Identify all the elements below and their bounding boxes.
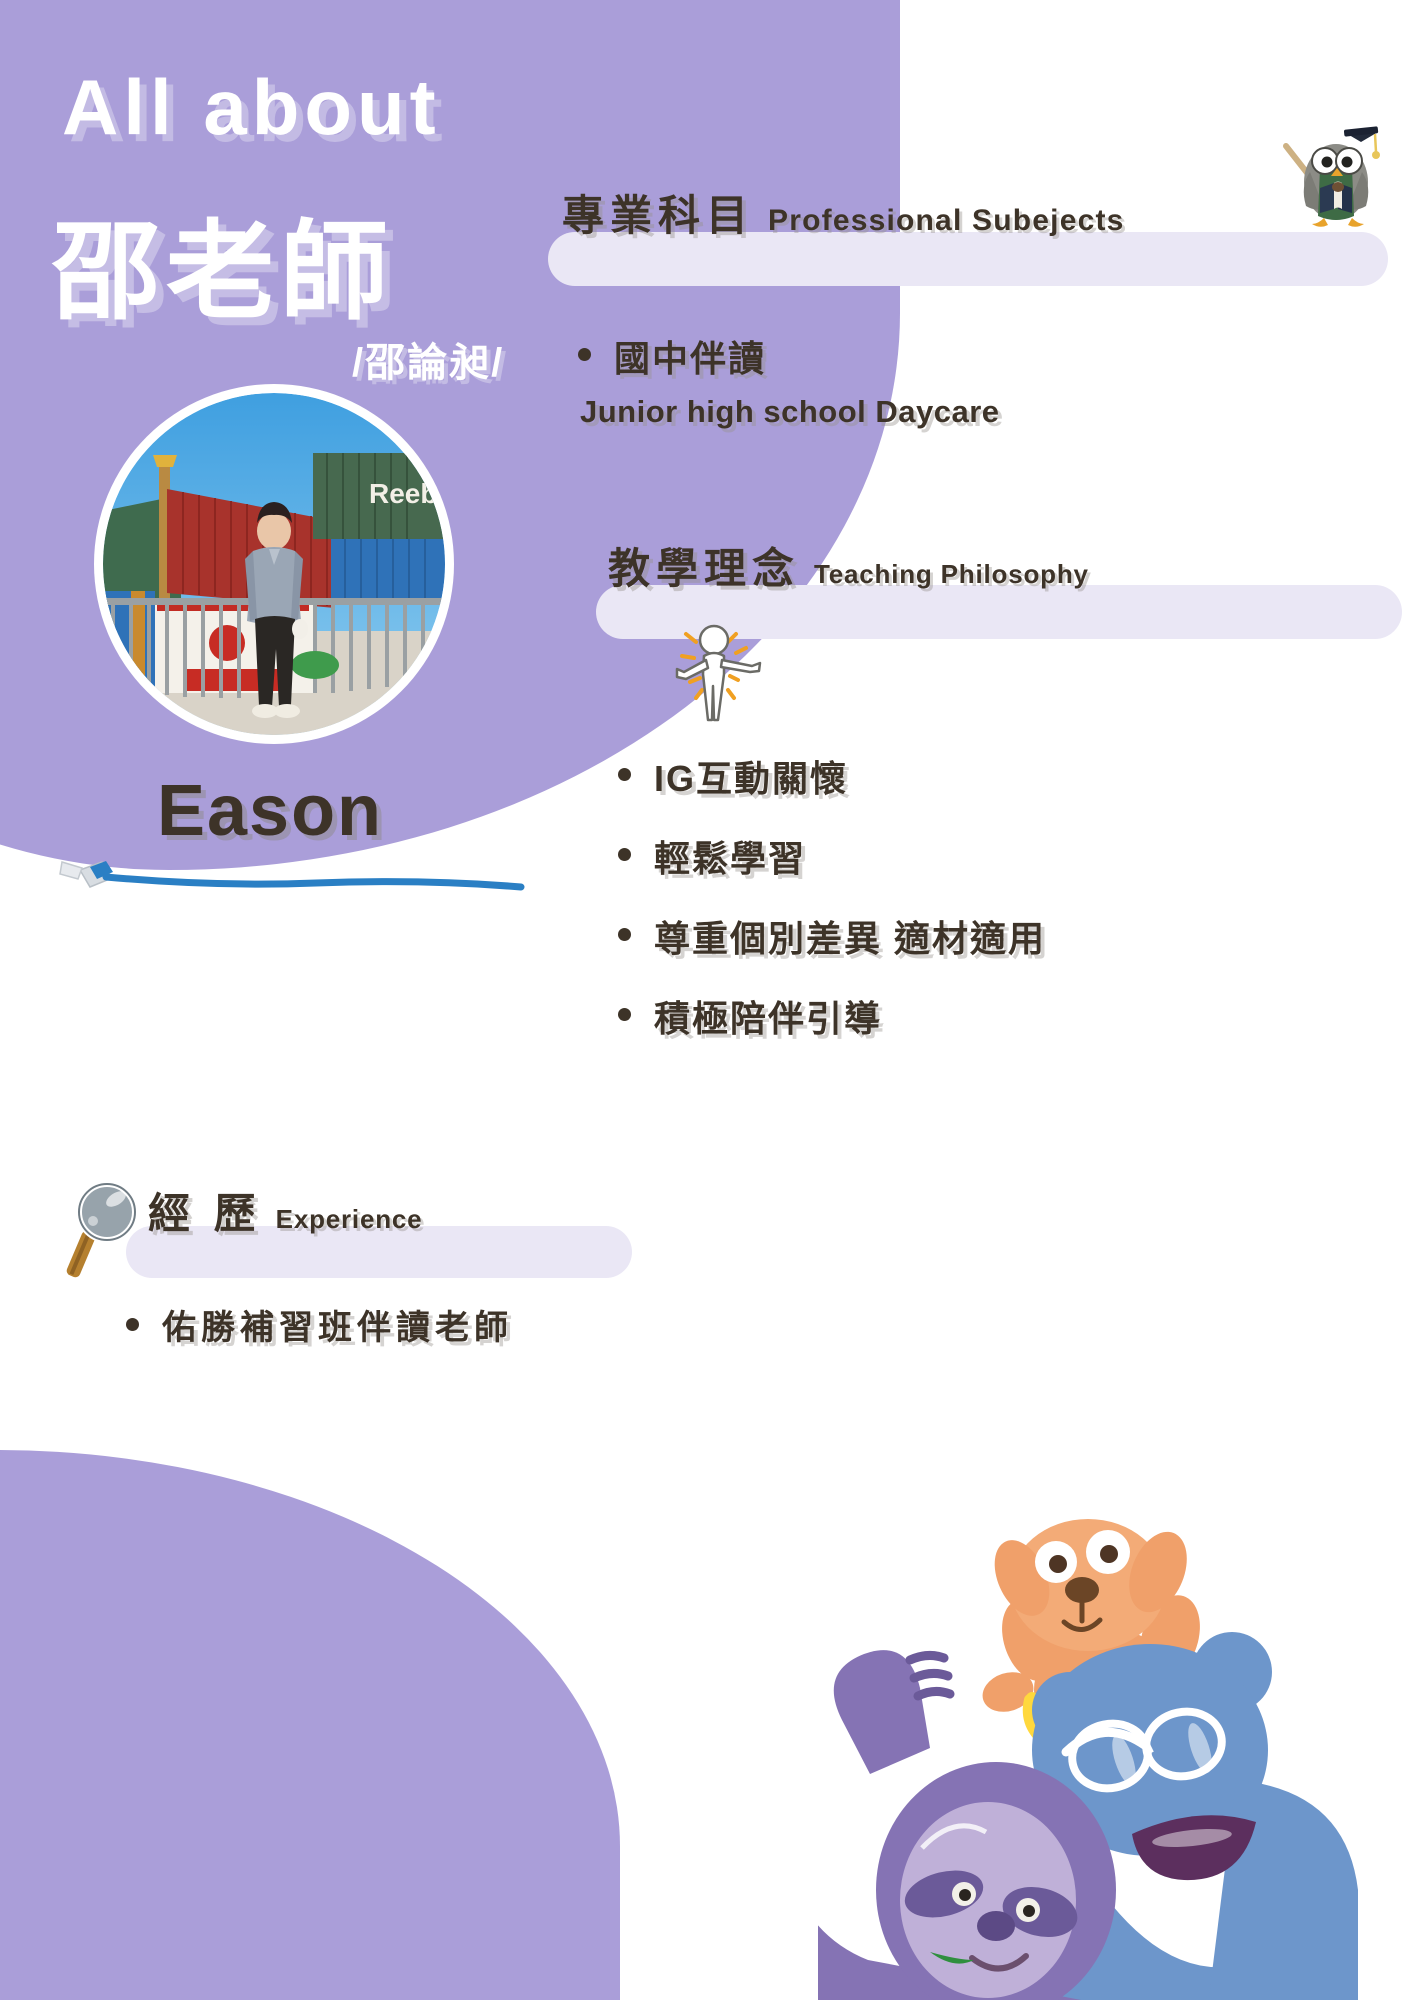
sparkle-person-illustration <box>672 612 776 726</box>
marker-stroke-icon <box>46 852 526 894</box>
bullet-list-professional: 國中伴讀 Junior high school Daycare <box>572 330 1272 458</box>
list-item: 輕鬆學習 <box>612 830 1312 882</box>
animal-friends-illustration <box>818 1460 1414 2000</box>
purple-background-blob-bottom <box>0 1450 620 2000</box>
animal-friends-icon <box>818 1460 1414 2000</box>
list-item-en: Junior high school Daycare <box>580 394 1272 430</box>
magnifying-glass-illustration <box>52 1172 156 1284</box>
profile-name: Eason <box>0 770 540 852</box>
page-title-chinese: 邵老師 <box>52 185 394 341</box>
section-header-experience: 經 歷 Experience <box>148 1180 422 1241</box>
list-item-zh: IG互動關懷 <box>654 758 848 799</box>
section-header-professional: 專業科目 Professional Subejects <box>562 182 1125 243</box>
owl-professor-icon <box>1272 110 1404 230</box>
blue-marker-underline <box>46 852 526 894</box>
list-item: 尊重個別差異 適材適用 <box>612 910 1312 962</box>
bullet-list-philosophy: IG互動關懷 輕鬆學習 尊重個別差異 適材適用 積極陪伴引導 <box>612 750 1312 1070</box>
list-item-zh: 國中伴讀 <box>614 338 766 379</box>
owl-professor-illustration <box>1272 110 1404 230</box>
list-item: 積極陪伴引導 <box>612 990 1312 1042</box>
profile-photo-illustration: Reeb <box>103 393 445 735</box>
section-title-en-philosophy: Teaching Philosophy <box>814 559 1089 590</box>
section-title-zh-professional: 專業科目 <box>562 182 754 243</box>
list-item-zh: 佑勝補習班伴讀老師 <box>162 1309 513 1347</box>
list-item: 佑勝補習班伴讀老師 <box>120 1300 740 1349</box>
sparkle-person-icon <box>672 612 776 726</box>
section-title-zh-philosophy: 教學理念 <box>608 535 800 596</box>
section-title-en-experience: Experience <box>276 1204 423 1235</box>
profile-photo: Reeb <box>103 393 445 735</box>
avatar: Reeb <box>94 384 454 744</box>
svg-text:Reeb: Reeb <box>369 478 437 509</box>
list-item-zh: 輕鬆學習 <box>654 838 806 879</box>
list-item-zh: 尊重個別差異 適材適用 <box>654 918 1046 959</box>
section-header-philosophy: 教學理念 Teaching Philosophy <box>608 535 1089 596</box>
list-item: 國中伴讀 Junior high school Daycare <box>572 330 1272 430</box>
bullet-list-experience: 佑勝補習班伴讀老師 <box>120 1300 740 1377</box>
list-item-zh: 積極陪伴引導 <box>654 998 882 1039</box>
page-subtitle-name: /邵論昶/ <box>352 330 504 388</box>
magnifying-glass-icon <box>52 1172 156 1284</box>
page-title-english: All about <box>62 62 441 153</box>
section-title-zh-experience: 經 歷 <box>148 1180 262 1241</box>
poster-canvas: All about 邵老師 /邵論昶/ <box>0 0 1414 2000</box>
list-item: IG互動關懷 <box>612 750 1312 802</box>
section-title-en-professional: Professional Subejects <box>768 204 1125 238</box>
